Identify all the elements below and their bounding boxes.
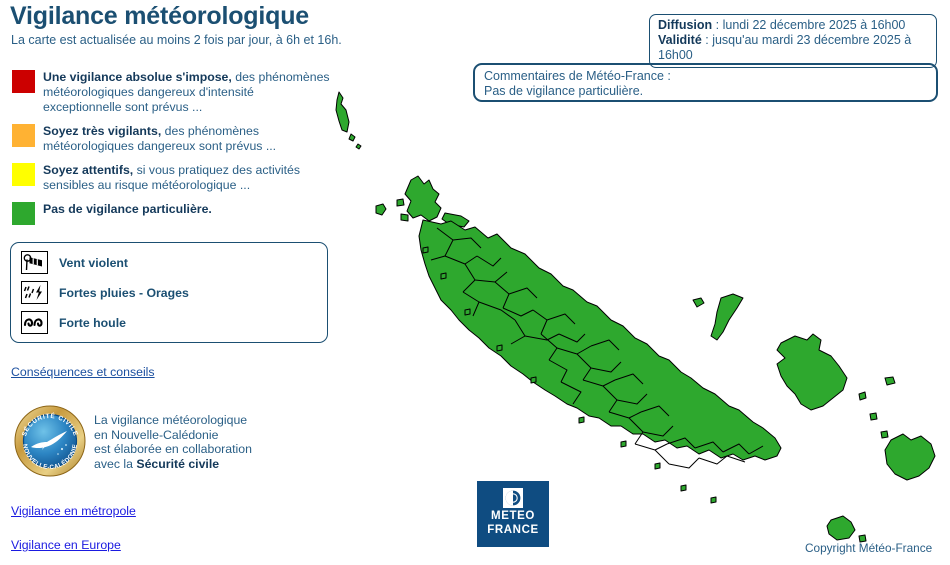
validity-line: Validité : jusqu'au mardi 23 décembre 20… bbox=[658, 33, 928, 63]
sc-line-2: en Nouvelle-Calédonie bbox=[94, 428, 314, 443]
phenomenon-rain-storm-label: Fortes pluies - Orages bbox=[59, 286, 189, 300]
map-region-ilot-tip-a bbox=[397, 199, 404, 206]
page-subtitle: La carte est actualisée au moins 2 fois … bbox=[11, 33, 342, 47]
link-consequences-conseils[interactable]: Conséquences et conseils bbox=[11, 365, 155, 379]
legend-swatch-yellow bbox=[12, 163, 35, 186]
map-region-belep-islet-2 bbox=[356, 144, 361, 149]
validity-label: Validité bbox=[658, 33, 702, 47]
sc-line-3: est élaborée en collaboration bbox=[94, 442, 314, 457]
map-region-belep bbox=[336, 92, 349, 132]
legend-item-yellow: Soyez attentifs, si vous pratiquez des a… bbox=[12, 163, 332, 193]
map-svg[interactable] bbox=[325, 88, 945, 558]
phenomena-legend-box: Vent violent Fortes pluies - Orages Fort… bbox=[10, 242, 328, 343]
map-region-grande-terre bbox=[419, 220, 781, 460]
map-region-islet-lm-4 bbox=[881, 431, 888, 438]
page-title: Vigilance météorologique bbox=[10, 2, 309, 31]
legend-text-green: Pas de vigilance particulière. bbox=[43, 202, 212, 217]
legend-text-red: Une vigilance absolue s'impose, des phén… bbox=[43, 70, 332, 115]
vigilance-legend: Une vigilance absolue s'impose, des phén… bbox=[12, 70, 332, 234]
map-region-ile-des-pins bbox=[827, 516, 855, 540]
legend-item-green: Pas de vigilance particulière. bbox=[12, 202, 332, 225]
swell-waves-icon bbox=[21, 311, 48, 334]
legend-text-orange: Soyez très vigilants, des phénomènes mét… bbox=[43, 124, 332, 154]
phenomenon-swell-label: Forte houle bbox=[59, 316, 126, 330]
comments-title: Commentaires de Météo-France : bbox=[484, 69, 927, 84]
map-region-islet-lm-1 bbox=[859, 392, 866, 400]
rain-storm-icon bbox=[21, 281, 48, 304]
link-vigilance-metropole[interactable]: Vigilance en métropole bbox=[11, 504, 136, 518]
map-region-islet-lm-3 bbox=[885, 377, 895, 385]
sc-line-4-prefix: avec la bbox=[94, 457, 136, 471]
legend-swatch-orange bbox=[12, 124, 35, 147]
phenomenon-rain-storm: Fortes pluies - Orages bbox=[21, 281, 327, 304]
sc-line-4-strong: Sécurité civile bbox=[136, 457, 219, 471]
legend-strong-yellow: Soyez attentifs, bbox=[43, 163, 133, 177]
vigilance-map-nouvelle-caledonie[interactable] bbox=[325, 88, 945, 558]
map-region-islet-lm-2 bbox=[870, 413, 877, 420]
map-region-mare bbox=[885, 434, 935, 480]
windsock-icon bbox=[21, 251, 48, 274]
legend-swatch-green bbox=[12, 202, 35, 225]
map-region-ouvea bbox=[711, 294, 743, 340]
securite-civile-logo: SÉCURITÉ CIVILE NOUVELLE-CALÉDONIE bbox=[12, 403, 88, 477]
map-region-ilot-tip-b bbox=[401, 214, 408, 221]
sc-line-4: avec la Sécurité civile bbox=[94, 457, 314, 472]
map-region-ilot-west bbox=[376, 204, 386, 215]
legend-strong-red: Une vigilance absolue s'impose, bbox=[43, 70, 232, 84]
phenomenon-swell: Forte houle bbox=[21, 311, 327, 334]
phenomenon-wind-label: Vent violent bbox=[59, 256, 128, 270]
legend-item-red: Une vigilance absolue s'impose, des phén… bbox=[12, 70, 332, 115]
diffusion-line: Diffusion : lundi 22 décembre 2025 à 16h… bbox=[658, 18, 928, 33]
diffusion-validity-box: Diffusion : lundi 22 décembre 2025 à 16h… bbox=[649, 14, 937, 68]
legend-text-yellow: Soyez attentifs, si vous pratiquez des a… bbox=[43, 163, 332, 193]
sc-line-1: La vigilance météorologique bbox=[94, 413, 314, 428]
link-vigilance-europe[interactable]: Vigilance en Europe bbox=[11, 538, 121, 552]
diffusion-label: Diffusion bbox=[658, 18, 712, 32]
map-region-lifou bbox=[777, 334, 847, 410]
legend-item-orange: Soyez très vigilants, des phénomènes mét… bbox=[12, 124, 332, 154]
map-region-poum bbox=[405, 176, 441, 221]
diffusion-value: : lundi 22 décembre 2025 à 16h00 bbox=[712, 18, 905, 32]
securite-civile-text: La vigilance météorologique en Nouvelle-… bbox=[94, 413, 314, 472]
legend-strong-green: Pas de vigilance particulière. bbox=[43, 202, 212, 216]
phenomenon-wind: Vent violent bbox=[21, 251, 327, 274]
map-region-belep-islet-1 bbox=[349, 134, 355, 141]
legend-strong-orange: Soyez très vigilants, bbox=[43, 124, 161, 138]
map-region-ile-des-pins-islet bbox=[859, 535, 866, 542]
map-region-ouvea-islet bbox=[693, 298, 704, 307]
legend-swatch-red bbox=[12, 70, 35, 93]
